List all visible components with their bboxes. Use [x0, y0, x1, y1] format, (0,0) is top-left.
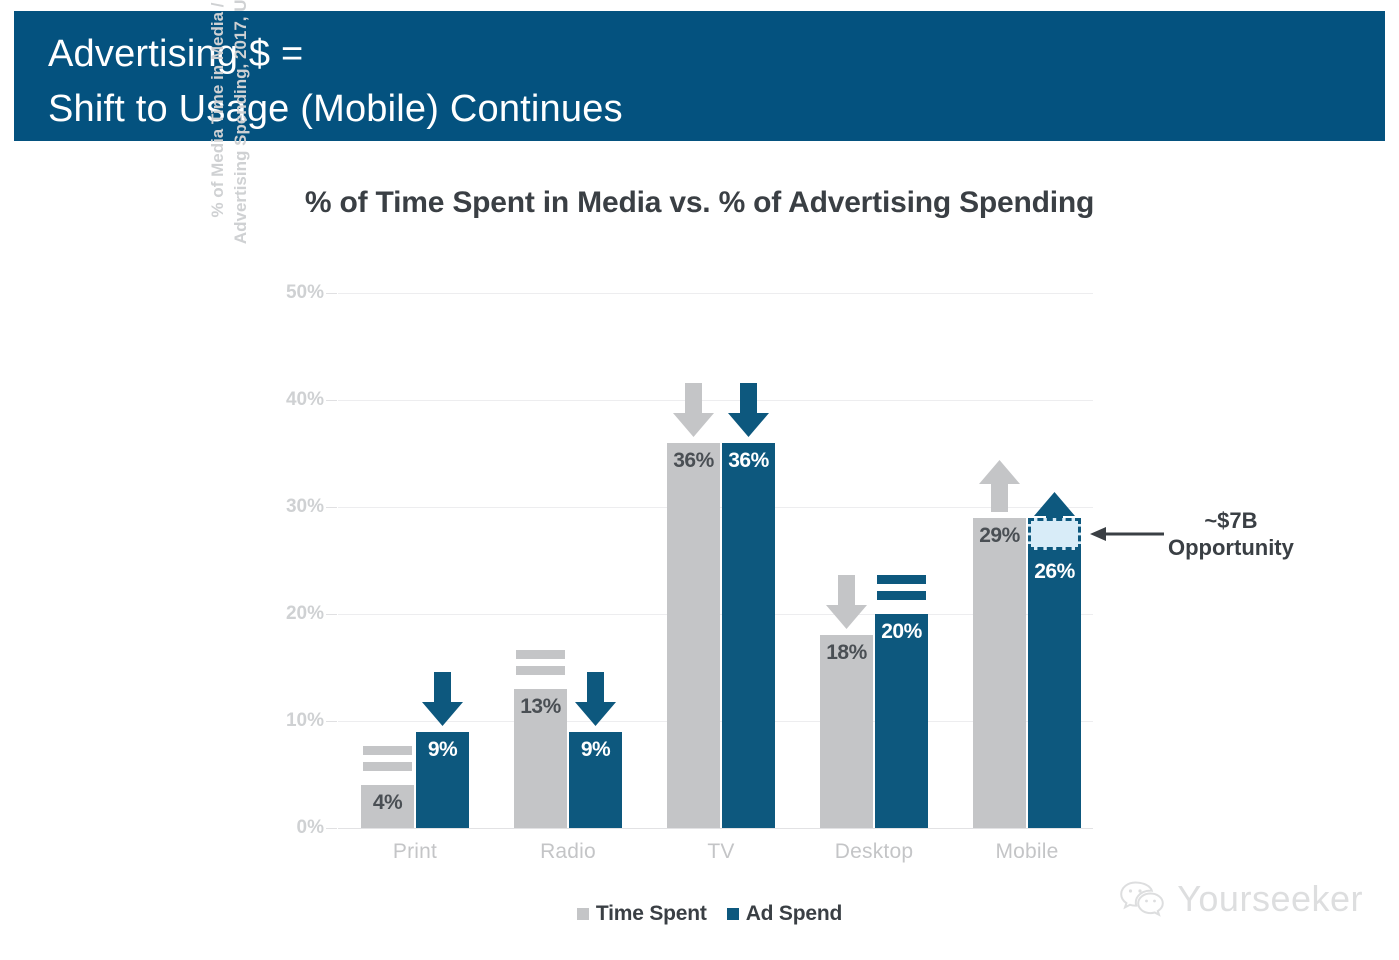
y-tick-label-50: 50% — [286, 282, 324, 304]
bar-value-radio-time-spent: 13% — [514, 695, 567, 719]
opportunity-box[interactable] — [1028, 518, 1081, 550]
bar-mobile-ad-spend[interactable]: 26% — [1028, 550, 1081, 828]
bar-group-print: 4%9%Print — [361, 293, 469, 828]
down-arrow-icon-radio-ad-spend — [569, 672, 622, 728]
bar-tv-ad-spend[interactable]: 36% — [722, 443, 775, 828]
up-arrow-icon-mobile-time-spent — [973, 458, 1026, 514]
wechat-icon — [1119, 880, 1165, 918]
bar-value-print-time-spent: 4% — [361, 791, 414, 815]
bar-radio-time-spent[interactable]: 13% — [514, 689, 567, 828]
bar-desktop-time-spent[interactable]: 18% — [820, 635, 873, 828]
bar-value-mobile-ad-spend: 26% — [1028, 560, 1081, 584]
bar-mobile-time-spent[interactable]: 29% — [973, 518, 1026, 828]
bar-value-radio-ad-spend: 9% — [569, 738, 622, 762]
bar-value-tv-time-spent: 36% — [667, 449, 720, 473]
bar-tv-time-spent[interactable]: 36% — [667, 443, 720, 828]
y-axis-label-line-2: Advertising Spending, 2017, USA — [230, 0, 251, 244]
legend-item-ad-spend[interactable]: Ad Spend — [727, 902, 842, 926]
down-arrow-icon-tv-time-spent — [667, 383, 720, 439]
legend-swatch-time-spent — [577, 908, 589, 920]
plot-area: 50%40%30%20%10%0%4%9%Print13%9%Radio36%3… — [338, 293, 1093, 828]
bar-group-tv: 36%36%TV — [667, 293, 775, 828]
y-tick-label-0: 0% — [297, 817, 324, 839]
bar-group-mobile: 29%26%Mobile — [973, 293, 1081, 828]
y-tick-mark-30 — [326, 507, 337, 508]
opportunity-leader-arrow-icon — [1090, 524, 1164, 544]
bar-group-radio: 13%9%Radio — [514, 293, 622, 828]
down-arrow-icon-tv-ad-spend — [722, 383, 775, 439]
down-arrow-icon-print-ad-spend — [416, 672, 469, 728]
bar-print-time-spent[interactable]: 4% — [361, 785, 414, 828]
bar-value-desktop-ad-spend: 20% — [875, 620, 928, 644]
x-axis-label-tv: TV — [659, 840, 783, 864]
opportunity-callout: ~$7BOpportunity — [1168, 508, 1294, 562]
opportunity-amount: ~$7B — [1168, 508, 1294, 535]
bar-value-desktop-time-spent: 18% — [820, 641, 873, 665]
opportunity-label: Opportunity — [1168, 535, 1294, 562]
down-arrow-icon-desktop-time-spent — [820, 575, 873, 631]
x-axis-label-mobile: Mobile — [965, 840, 1089, 864]
bar-desktop-ad-spend[interactable]: 20% — [875, 614, 928, 828]
gridline-0 — [338, 828, 1093, 829]
y-tick-label-40: 40% — [286, 389, 324, 411]
legend-swatch-ad-spend — [727, 908, 739, 920]
slide-canvas: Advertising $ = Shift to Usage (Mobile) … — [0, 0, 1399, 960]
y-tick-mark-50 — [326, 293, 337, 294]
y-tick-mark-40 — [326, 400, 337, 401]
x-axis-label-radio: Radio — [506, 840, 630, 864]
legend-label-ad-spend: Ad Spend — [746, 902, 842, 926]
legend-label-time-spent: Time Spent — [596, 902, 707, 926]
equals-icon-radio-time-spent — [514, 647, 567, 681]
y-tick-label-20: 20% — [286, 603, 324, 625]
y-tick-label-30: 30% — [286, 496, 324, 518]
bar-print-ad-spend[interactable]: 9% — [416, 732, 469, 828]
bar-value-mobile-time-spent: 29% — [973, 524, 1026, 548]
y-tick-mark-20 — [326, 614, 337, 615]
bar-value-print-ad-spend: 9% — [416, 738, 469, 762]
legend-item-time-spent[interactable]: Time Spent — [577, 902, 707, 926]
watermark: Yourseeker — [1119, 878, 1363, 920]
bar-radio-ad-spend[interactable]: 9% — [569, 732, 622, 828]
y-tick-mark-10 — [326, 721, 337, 722]
equals-icon-print-time-spent — [361, 743, 414, 777]
x-axis-label-print: Print — [353, 840, 477, 864]
x-axis-label-desktop: Desktop — [812, 840, 936, 864]
y-tick-label-10: 10% — [286, 710, 324, 732]
y-tick-mark-0 — [326, 828, 337, 829]
y-axis-label-line-1: % of Media Time in Media / — [207, 2, 228, 217]
equals-icon-desktop-ad-spend — [875, 572, 928, 606]
bar-value-tv-ad-spend: 36% — [722, 449, 775, 473]
watermark-label: Yourseeker — [1177, 878, 1363, 920]
bar-group-desktop: 18%20%Desktop — [820, 293, 928, 828]
y-axis-label: % of Media Time in Media / Advertising S… — [189, 0, 269, 380]
